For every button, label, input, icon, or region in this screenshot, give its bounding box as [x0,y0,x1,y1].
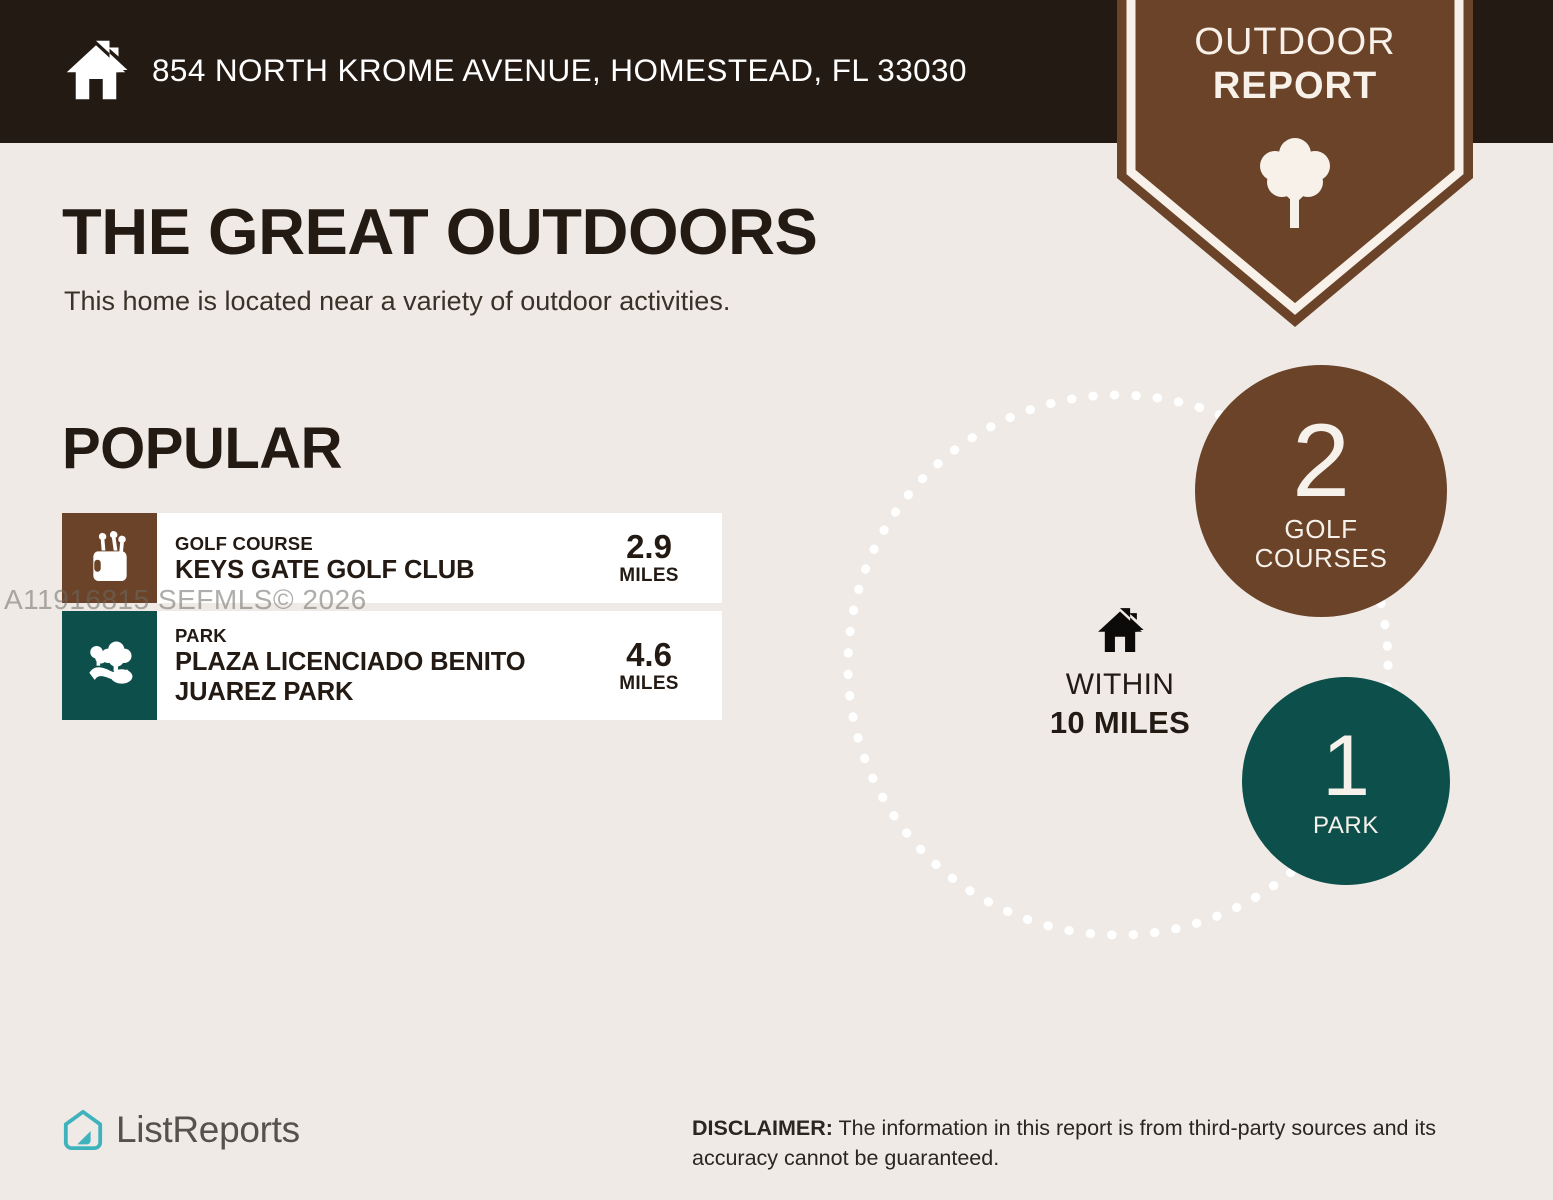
park-trees-icon [84,637,136,694]
popular-places-list: GOLF COURSE KEYS GATE GOLF CLUB 2.9 MILE… [62,513,722,728]
distance-value: 4.6 [626,637,672,673]
place-distance: 4.6 MILES [594,611,722,720]
home-icon [1093,603,1147,657]
place-category: GOLF COURSE [175,532,594,555]
listreports-house-icon [62,1108,104,1152]
radius-label: 10 MILES [1000,704,1240,742]
stat-count: 1 [1322,723,1370,809]
place-icon-tile [62,513,157,603]
distance-value: 2.9 [626,529,672,565]
list-item[interactable]: GOLF COURSE KEYS GATE GOLF CLUB 2.9 MILE… [62,513,722,603]
place-name: KEYS GATE GOLF CLUB [175,555,594,585]
place-text: PARK PLAZA LICENCIADO BENITO JUAREZ PARK [157,611,594,720]
listreports-wordmark: ListReports [116,1109,300,1151]
list-item[interactable]: PARK PLAZA LICENCIADO BENITO JUAREZ PARK… [62,611,722,720]
property-address: 854 NORTH KROME AVENUE, HOMESTEAD, FL 33… [152,52,967,89]
disclaimer-label: DISCLAIMER: [692,1116,833,1140]
stat-bubble-golf-courses[interactable]: 2 GOLF COURSES [1195,365,1447,617]
home-icon [60,34,132,106]
within-label: WITHIN [1000,666,1240,704]
golf-bag-icon [85,529,135,588]
proximity-diagram: WITHIN 10 MILES 2 GOLF COURSES 1 PARK [820,355,1500,975]
place-icon-tile [62,611,157,720]
outdoor-report-page: 854 NORTH KROME AVENUE, HOMESTEAD, FL 33… [0,0,1553,1200]
listreports-logo[interactable]: ListReports [62,1108,300,1152]
page-subtitle: This home is located near a variety of o… [64,286,730,317]
distance-unit: MILES [619,565,679,587]
stat-label-line1: GOLF [1284,515,1357,544]
page-title: THE GREAT OUTDOORS [62,194,817,269]
distance-unit: MILES [619,673,679,695]
badge-title-line2: REPORT [1117,64,1473,108]
stat-label-line1: PARK [1313,811,1379,840]
badge-title-line1: OUTDOOR [1117,20,1473,64]
place-category: PARK [175,624,594,647]
stat-bubble-parks[interactable]: 1 PARK [1242,677,1450,885]
center-label-group: WITHIN 10 MILES [1000,603,1240,742]
section-title-popular: POPULAR [62,415,342,482]
stat-count: 2 [1292,409,1350,513]
tree-icon [1253,134,1337,235]
place-name: PLAZA LICENCIADO BENITO JUAREZ PARK [175,647,594,707]
stat-label-line2: COURSES [1255,544,1388,573]
outdoor-report-badge: OUTDOOR REPORT [1117,0,1473,327]
place-distance: 2.9 MILES [594,513,722,603]
badge-title: OUTDOOR REPORT [1117,20,1473,108]
place-text: GOLF COURSE KEYS GATE GOLF CLUB [157,513,594,603]
disclaimer: DISCLAIMER: The information in this repo… [692,1113,1502,1173]
